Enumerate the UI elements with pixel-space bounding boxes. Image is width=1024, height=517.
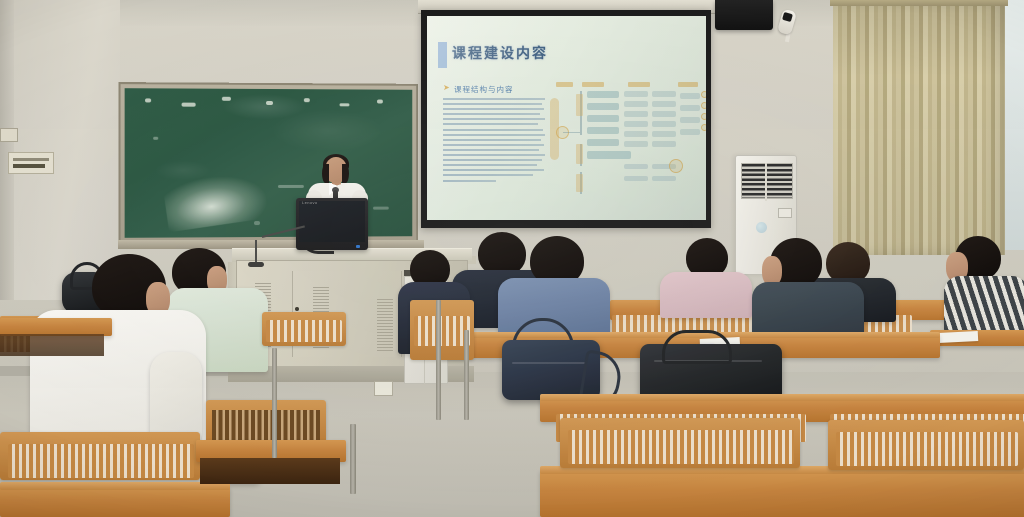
ac-grille-divider <box>765 163 767 201</box>
student-body-9 <box>944 276 1024 332</box>
chalkboard-frame <box>119 82 419 244</box>
classroom-photo: 课程建设内容 ➤ 课程结构与内容 <box>0 0 1024 517</box>
chair-left-upper-slats <box>266 320 342 342</box>
monitor-brand-label: Lenovo <box>302 200 318 205</box>
chalk-smudge <box>162 170 268 232</box>
desk-mid-left-under <box>200 458 340 484</box>
presenter-hair-right <box>342 164 349 183</box>
ac-control-panel[interactable] <box>778 208 792 218</box>
desk-left-far-under <box>0 334 104 356</box>
chair-front-center-slats <box>568 430 794 464</box>
presenter-hair-left <box>322 164 329 183</box>
desk-leg-1 <box>272 348 277 458</box>
ac-grille <box>741 163 793 199</box>
bullet-marker-icon: ➤ <box>443 84 450 92</box>
projection-screen: 课程建设内容 ➤ 课程结构与内容 <box>427 16 706 220</box>
desk-front-left <box>0 486 230 517</box>
curtain-shading <box>833 0 1005 255</box>
chair-left-rear-slats <box>414 316 470 346</box>
slide-title: 课程建设内容 <box>452 43 548 63</box>
notebook-far-right <box>938 331 978 343</box>
ac-brand-badge <box>756 222 767 233</box>
console-vent-right <box>377 299 393 351</box>
wall-notice-small <box>0 128 18 142</box>
slide-structure-diagram <box>554 82 704 202</box>
left-wall <box>0 0 120 300</box>
chair-front-right-slats <box>836 432 1018 466</box>
desk-front-right-edge <box>540 394 1024 401</box>
plaque-line-1 <box>13 158 49 161</box>
presentation-slide: 课程建设内容 ➤ 课程结构与内容 <box>438 42 702 192</box>
slide-subtitle: 课程结构与内容 <box>454 84 514 95</box>
desk-front-left-edge <box>0 482 230 490</box>
desk-bottom-right <box>540 470 1024 517</box>
desk-leg-2 <box>436 300 441 420</box>
student-body-6 <box>660 272 752 318</box>
backpack-strap-right <box>662 330 732 364</box>
desk-leg-3 <box>464 330 469 420</box>
window-gap <box>1005 0 1024 250</box>
wall-speaker <box>715 0 773 30</box>
console-indicator-led <box>295 307 299 311</box>
chair-mid-left-slats <box>212 410 320 440</box>
mic-base <box>248 262 264 267</box>
desk-leg-4 <box>350 424 356 494</box>
lenovo-monitor[interactable]: Lenovo <box>296 198 368 250</box>
chalkboard <box>125 88 413 238</box>
left-wall-edge <box>0 0 14 300</box>
wall-power-outlet[interactable] <box>374 381 393 396</box>
slide-body-text <box>443 98 545 185</box>
plaque-line-2 <box>13 164 45 168</box>
monitor-power-led <box>356 245 360 248</box>
chair-front-left-slats <box>8 444 194 478</box>
monitor-screen <box>299 201 365 242</box>
room-plaque <box>8 152 54 174</box>
projection-screen-frame: 课程建设内容 ➤ 课程结构与内容 <box>421 10 711 228</box>
curtain-rod <box>830 0 1008 6</box>
slide-title-accent-bar <box>438 42 447 68</box>
